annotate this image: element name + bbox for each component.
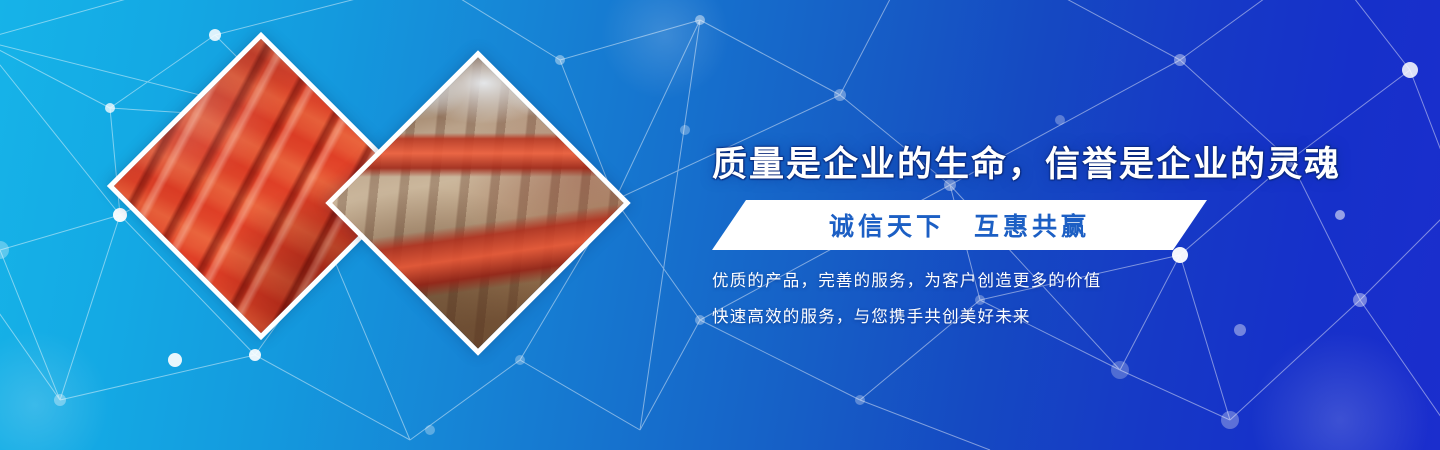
banner-subtitle-line-2: 快速高效的服务，与您携手共创美好未来 <box>712 303 1272 327</box>
red-drive-shafts-on-pallets-photo <box>332 57 625 350</box>
banner-headline: 质量是企业的生命，信誉是企业的灵魂 <box>712 136 1272 187</box>
bokeh-glow-3 <box>600 0 730 100</box>
slogan-ribbon-text: 诚信天下 互惠共赢 <box>829 207 1090 243</box>
product-image-right-diamond <box>325 50 630 355</box>
slogan-ribbon: 诚信天下 互惠共赢 <box>712 200 1207 250</box>
banner-subtitle-line-1: 优质的产品，完善的服务，为客户创造更多的价值 <box>712 267 1272 291</box>
bokeh-glow-2 <box>1250 330 1430 450</box>
bokeh-glow-1 <box>0 330 110 450</box>
promotional-banner: 质量是企业的生命，信誉是企业的灵魂 诚信天下 互惠共赢 优质的产品，完善的服务，… <box>0 0 1440 450</box>
